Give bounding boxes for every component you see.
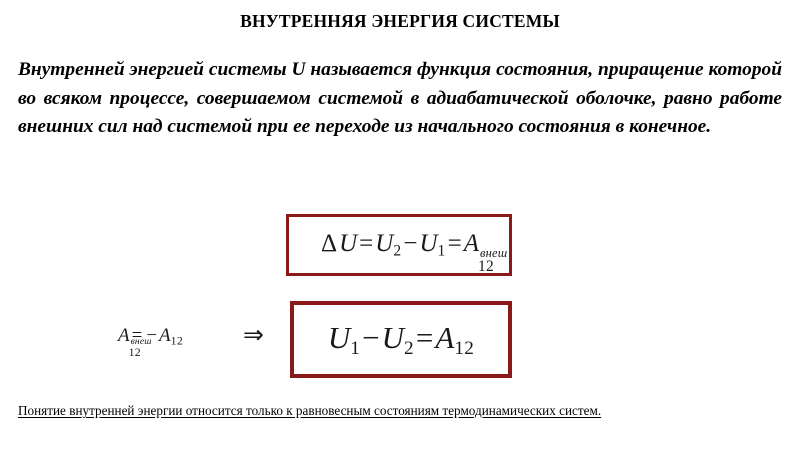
- variable-a-box2: A: [435, 320, 454, 355]
- variable-a-external: Aвнеш12: [118, 326, 130, 345]
- minus-symbol-box2: −: [360, 320, 381, 355]
- variable-a: A: [464, 230, 479, 257]
- variable-a-right: A: [159, 325, 171, 346]
- formula-internal-energy: ΔU=U2−U1=Aвнеш12: [319, 231, 479, 259]
- variable-u: U: [339, 230, 357, 257]
- variable-u2-box2: U: [382, 320, 404, 355]
- equals-symbol-box2: =: [414, 320, 435, 355]
- variable-a-left: A: [118, 325, 130, 346]
- subscript-12-right: 12: [171, 335, 183, 348]
- subscript-12: 12: [478, 259, 494, 275]
- subscript-12-left: 12: [129, 347, 141, 359]
- formula-energy-difference: U1−U2=A12: [328, 322, 474, 358]
- equals-symbol-1: =: [357, 230, 375, 257]
- formula-box-result: U1−U2=A12: [290, 301, 512, 378]
- implies-arrow-icon: ⇒: [243, 322, 264, 347]
- side-equation: Aвнеш12=−A12: [118, 326, 183, 347]
- variable-u1-box2: U: [328, 320, 350, 355]
- page-title: ВНУТРЕННЯЯ ЭНЕРГИЯ СИСТЕМЫ: [0, 11, 800, 32]
- minus-symbol: −: [401, 230, 419, 257]
- formula-box-primary: ΔU=U2−U1=Aвнеш12: [286, 214, 512, 276]
- subscript-12-box2: 12: [454, 337, 474, 358]
- subscript-2-box2: 2: [404, 337, 414, 358]
- subscript-1: 1: [438, 243, 446, 260]
- variable-u1: U: [419, 230, 437, 257]
- delta-symbol: Δ: [319, 230, 339, 257]
- definition-paragraph: Внутренней энергией системы U называется…: [18, 56, 782, 142]
- equals-symbol-2: =: [446, 230, 464, 257]
- formula-work-relation: Aвнеш12=−A12: [118, 325, 183, 346]
- footer-note: Понятие внутренней энергии относится тол…: [18, 403, 782, 419]
- variable-a-work: Aвнеш12: [464, 231, 479, 256]
- slide-canvas: ВНУТРЕННЯЯ ЭНЕРГИЯ СИСТЕМЫ Внутренней эн…: [0, 0, 800, 450]
- subscript-1-box2: 1: [350, 337, 360, 358]
- variable-u2: U: [375, 230, 393, 257]
